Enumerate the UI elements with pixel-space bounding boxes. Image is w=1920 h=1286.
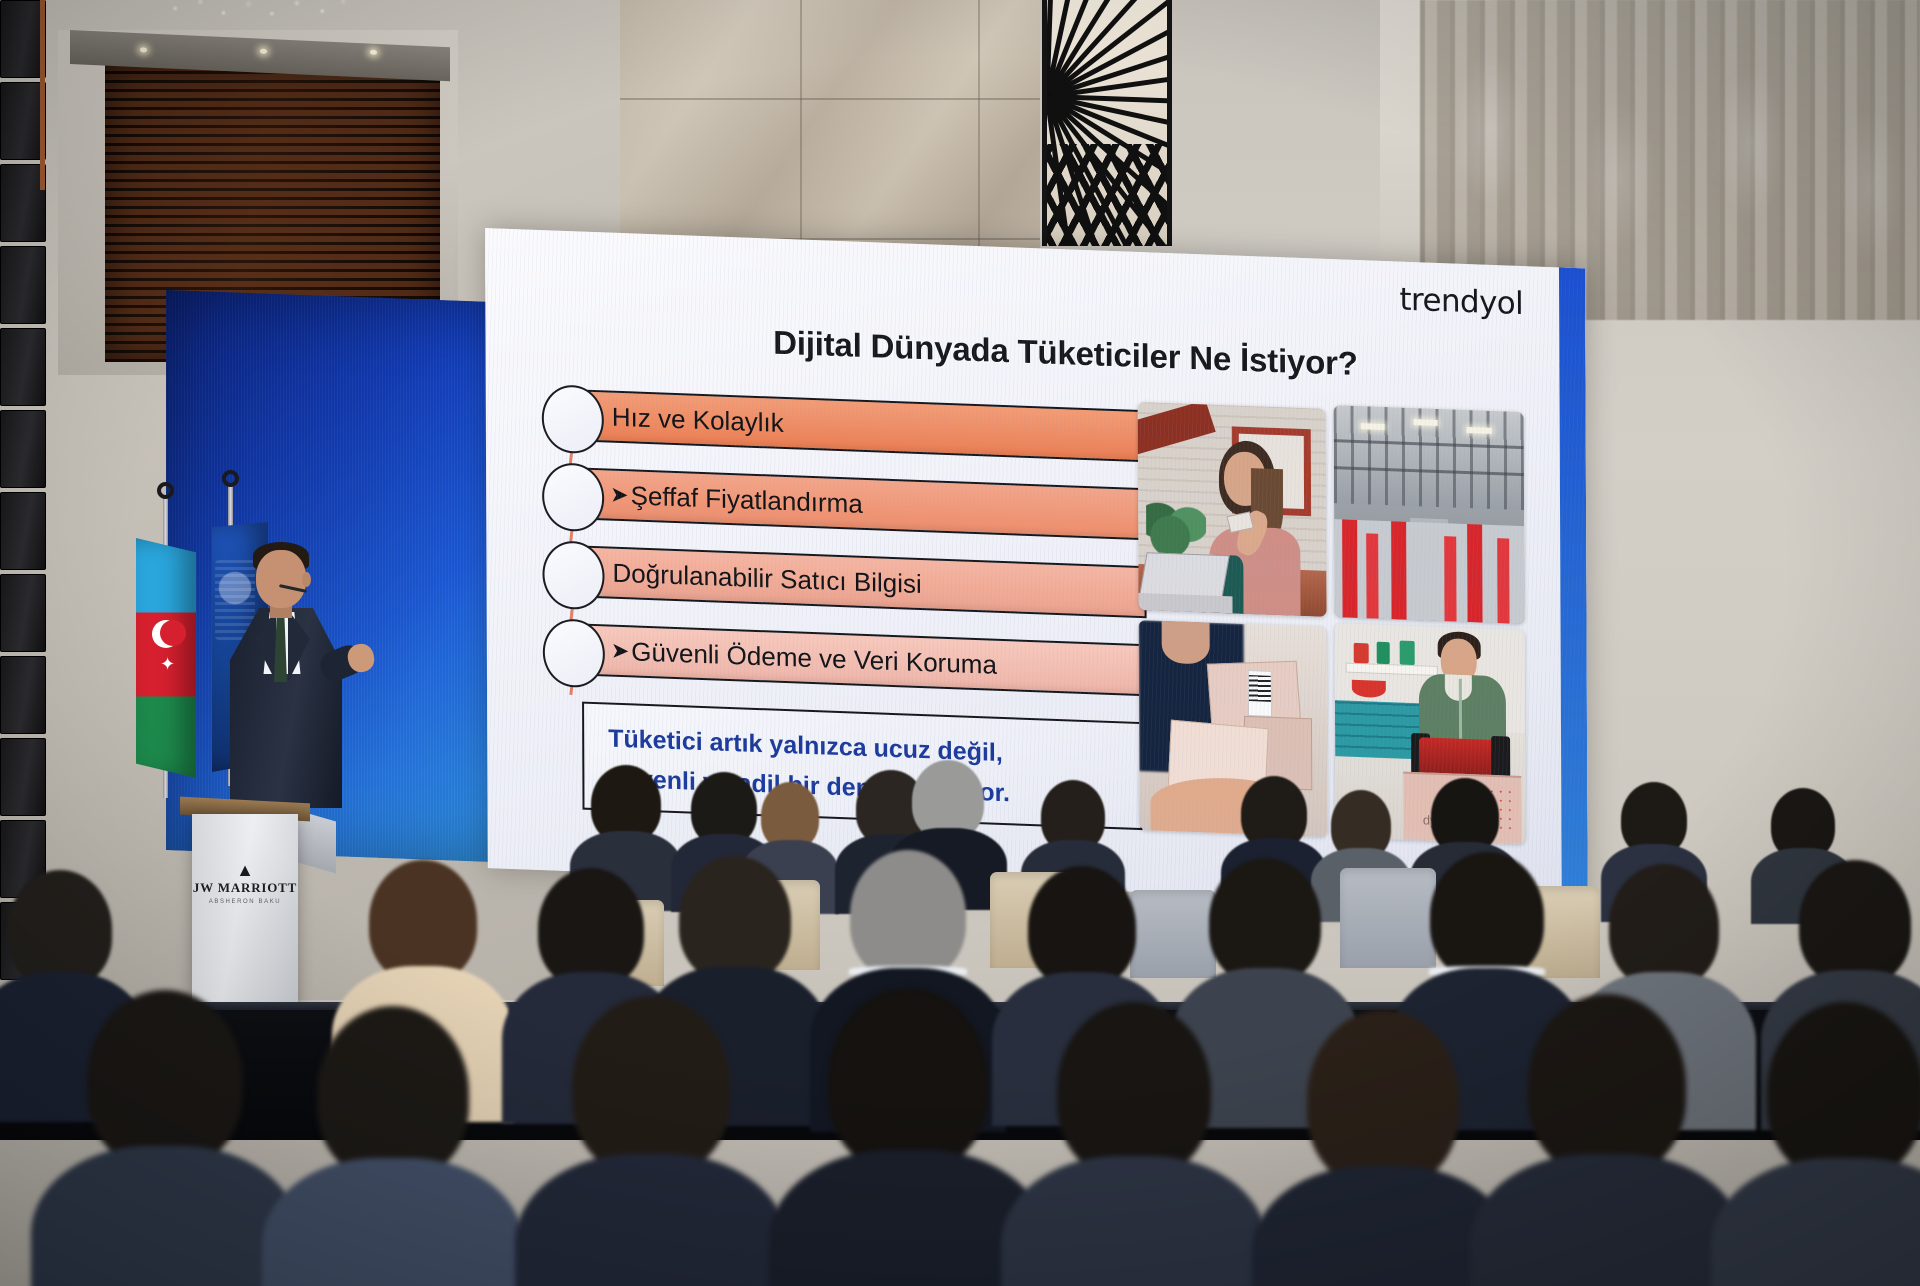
downlight: [370, 50, 377, 55]
bullet-label: Güvenli Ödeme ve Veri Koruma: [631, 636, 997, 680]
audience: [0, 740, 1920, 1286]
conference-scene: trendyol Dijital Dünyada Tüketiciler Ne …: [0, 0, 1920, 1286]
speaker-trim: [40, 0, 45, 190]
speaker-cabinet: [0, 574, 46, 652]
speaker-cabinet: [0, 328, 46, 406]
audience-member: [1030, 1002, 1238, 1286]
audience-member: [1500, 994, 1714, 1286]
crescent-icon: [152, 620, 180, 648]
flag-finial-icon: [222, 470, 239, 487]
audience-member: [1740, 1002, 1920, 1286]
speaker-cabinet: [0, 492, 46, 570]
zigzag-pattern: [1042, 144, 1172, 246]
bullet-list: Hız ve Kolaylık ➤ Şeffaf Fiyatlandırma D…: [538, 382, 1151, 716]
photo-warehouse-conveyor: [1334, 405, 1525, 624]
bullet-label: Hız ve Kolaylık: [612, 401, 784, 438]
slide-title: Dijital Dünyada Tüketiciler Ne İstiyor?: [635, 319, 1495, 389]
speaker-cabinet: [0, 656, 46, 734]
audience-member: [1280, 1010, 1486, 1286]
bullet-label: Doğrulanabilir Satıcı Bilgisi: [612, 557, 921, 599]
bullet-bar: ➤ Şeffaf Fiyatlandırma: [586, 468, 1146, 541]
star-icon: ✦: [160, 655, 175, 673]
presenter-face: [256, 550, 306, 608]
speaker-cabinet: [0, 410, 46, 488]
audience-member: [60, 990, 270, 1286]
speaker-cabinet: [0, 246, 46, 324]
photo-woman-shopping-online: [1138, 402, 1327, 617]
bullet-label: Şeffaf Fiyatlandırma: [631, 480, 863, 520]
chandelier: [150, 0, 360, 26]
chevron-icon: ➤: [611, 638, 630, 665]
bullet-bar: Doğrulanabilir Satıcı Bilgisi: [586, 546, 1146, 619]
bullet-bar: ➤ Güvenli Ödeme ve Veri Koruma: [587, 624, 1147, 697]
flag-finial-icon: [157, 482, 174, 499]
chevron-icon: ➤: [610, 482, 629, 509]
audience-member: [545, 996, 757, 1286]
trendyol-logo: trendyol: [1399, 282, 1523, 323]
sunburst-screen-decor: [1042, 0, 1172, 246]
bullet-bar: Hız ve Kolaylık: [586, 390, 1146, 463]
audience-member: [290, 1006, 496, 1286]
audience-member: [800, 988, 1016, 1286]
downlight: [260, 49, 267, 54]
downlight: [140, 47, 147, 52]
